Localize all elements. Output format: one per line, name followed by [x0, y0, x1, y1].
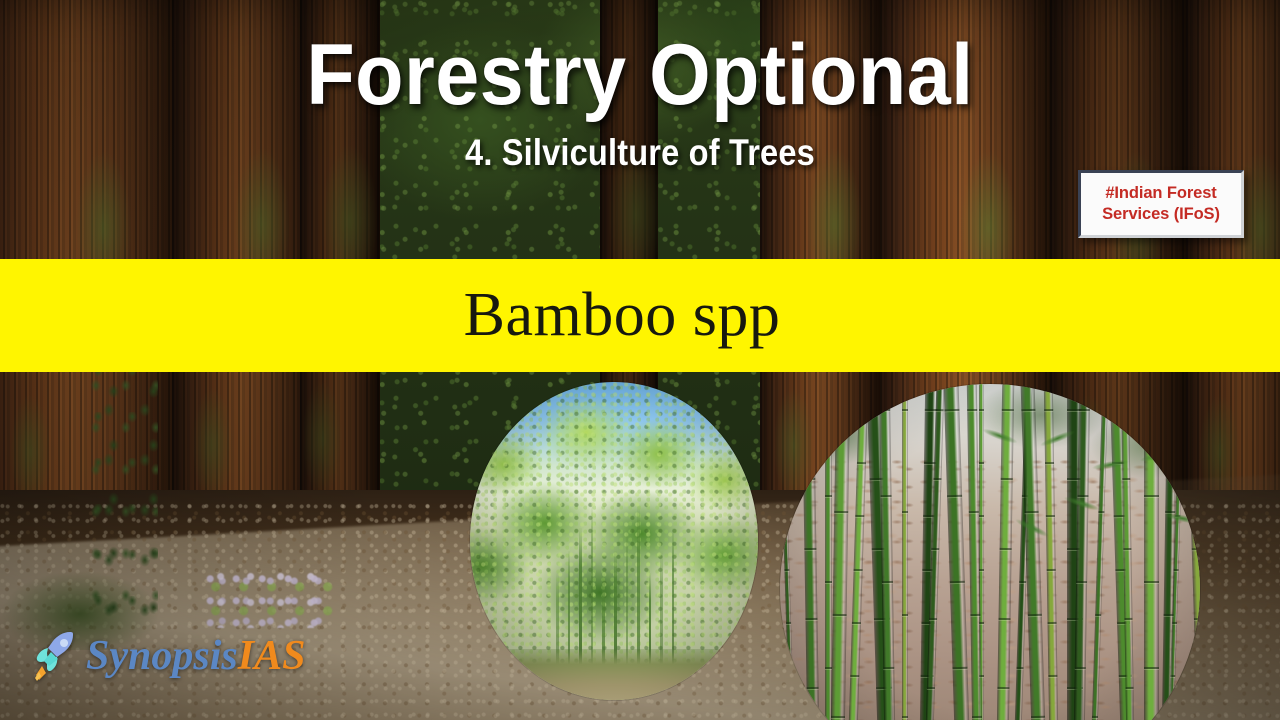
- badge-line-2: Services (IFoS): [1102, 205, 1220, 224]
- bamboo-culms-photo: [780, 384, 1200, 720]
- bamboo-culm: [902, 384, 908, 720]
- bamboo-culm: [1144, 384, 1159, 720]
- bamboo-culm: [825, 384, 832, 720]
- page-subtitle: 4. Silviculture of Trees: [77, 132, 1203, 174]
- logo-text: SynopsisIAS: [86, 635, 305, 677]
- topic-banner: Bamboo spp: [0, 259, 1280, 372]
- title-block: Forestry Optional 4. Silviculture of Tre…: [0, 0, 1280, 174]
- page-title: Forestry Optional: [51, 30, 1229, 120]
- brand-logo[interactable]: SynopsisIAS: [28, 628, 305, 684]
- badge-line-1: #Indian Forest: [1105, 184, 1216, 203]
- rocket-icon: [28, 628, 80, 684]
- bamboo-grove-photo: [470, 382, 758, 700]
- logo-text-primary: Synopsis: [86, 633, 238, 679]
- presentation-slide: Forestry Optional 4. Silviculture of Tre…: [0, 0, 1280, 720]
- logo-text-secondary: IAS: [238, 633, 306, 679]
- grove-ground: [470, 649, 758, 700]
- status-badge: #Indian Forest Services (IFoS): [1078, 170, 1244, 238]
- topic-title: Bamboo spp: [464, 280, 781, 351]
